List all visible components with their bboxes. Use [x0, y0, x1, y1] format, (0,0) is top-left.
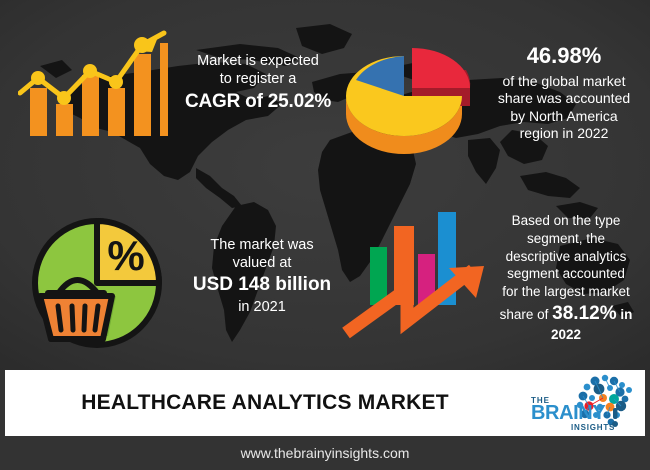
footer-title-band: HEALTHCARE ANALYTICS MARKET — [5, 370, 645, 436]
seg-line-6-prefix: share of — [500, 307, 553, 322]
cagr-highlight: CAGR of 25.02% — [172, 90, 344, 114]
percent-symbol-icon: % — [107, 232, 144, 279]
seg-line-3: descriptive analytics — [506, 249, 627, 264]
value-line-2: valued at — [233, 255, 292, 271]
seg-line-2: segment, the — [527, 231, 605, 246]
pie-slice-red — [412, 48, 470, 88]
market-value-stat-text: The market was valued at USD 148 billion… — [176, 236, 348, 316]
website-url-band[interactable]: www.thebrainyinsights.com — [0, 436, 650, 470]
na-line-2: share was accounted — [498, 90, 630, 106]
website-url: www.thebrainyinsights.com — [241, 445, 410, 461]
seg-highlight: 38.12% — [552, 303, 616, 324]
descriptive-analytics-stat-text: Based on the type segment, the descripti… — [484, 212, 648, 344]
logo-brainy-text: BRAINY — [531, 402, 606, 424]
na-share-highlight: 46.98% — [480, 42, 648, 70]
seg-line-1: Based on the type — [512, 213, 621, 228]
seg-line-6-suffix: in — [617, 307, 633, 322]
seg-line-5: for the largest market — [502, 284, 630, 299]
segment-growth-chart — [332, 200, 502, 355]
na-line-3: by North America — [510, 108, 617, 124]
na-line-4: region in 2022 — [520, 125, 609, 141]
value-highlight: USD 148 billion — [176, 273, 348, 297]
logo-insights-text: INSIGHTS — [571, 423, 615, 432]
regional-share-pie — [334, 18, 474, 163]
seg-line-4: segment accounted — [507, 266, 625, 281]
page-title: HEALTHCARE ANALYTICS MARKET — [5, 370, 525, 436]
value-line-1: The market was — [210, 237, 313, 253]
growth-arrow-icon — [346, 266, 484, 333]
na-line-1: of the global market — [503, 73, 626, 89]
cagr-line-2: to register a — [220, 71, 297, 87]
cagr-trend-chart — [18, 26, 168, 143]
cagr-line-1: Market is expected — [197, 53, 319, 69]
percent-pie-basket-chart: % — [22, 208, 172, 363]
cagr-stat-text: Market is expected to register a CAGR of… — [172, 52, 344, 114]
bar-green — [370, 247, 387, 305]
north-america-stat-text: 46.98% of the global market share was ac… — [480, 42, 648, 143]
infographic-canvas: Market is expected to register a CAGR of… — [0, 0, 650, 470]
seg-line-7: 2022 — [551, 327, 581, 342]
value-line-3: in 2021 — [238, 299, 286, 315]
shopping-basket-icon — [40, 296, 112, 339]
brainy-insights-logo[interactable]: THE BRAINY INSIGHTS — [525, 372, 637, 434]
